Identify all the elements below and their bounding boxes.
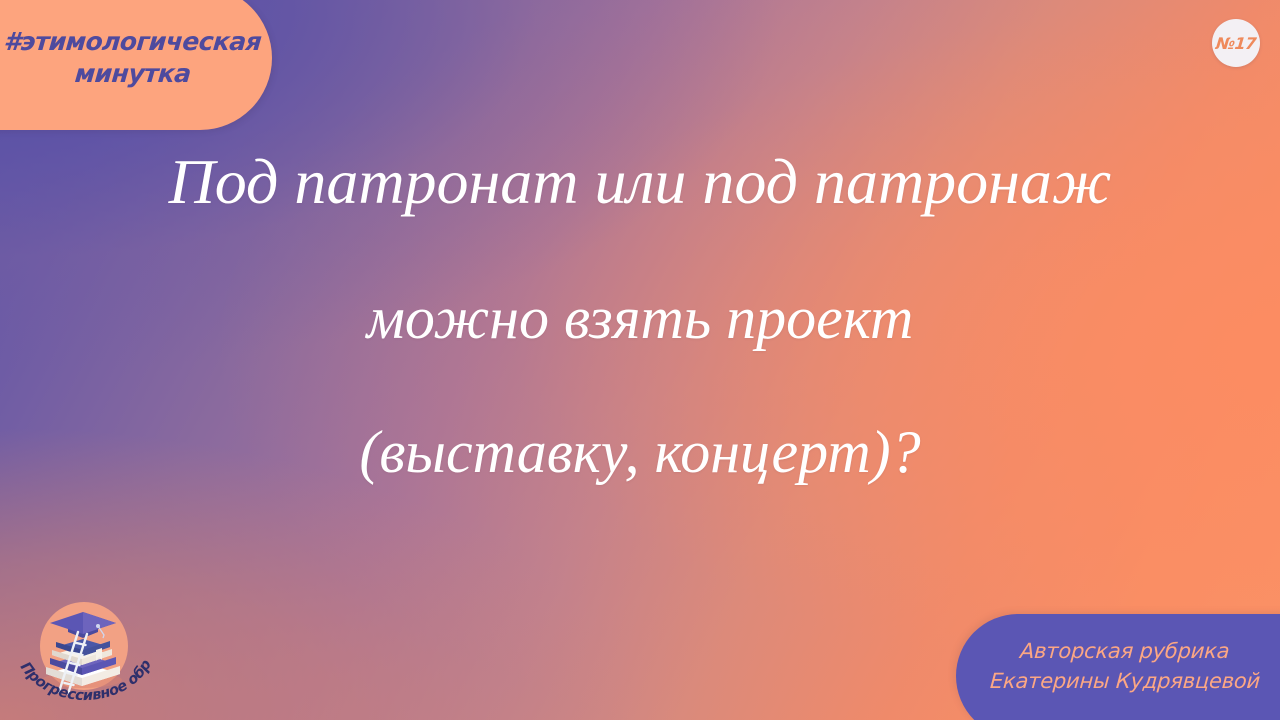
author-credit-line-2: Екатерины Кудрявцевой: [989, 667, 1261, 697]
brand-logo: Прогрессивное образование: [12, 588, 172, 718]
hashtag-badge-line-1: #этимологическая: [3, 26, 263, 58]
author-credit-line-1: Авторская рубрика: [1019, 637, 1230, 667]
issue-number-label: №17: [1215, 34, 1257, 53]
issue-number-badge: №17: [1212, 19, 1260, 67]
hashtag-badge-line-2: минутка: [74, 58, 192, 90]
author-credit-badge: Авторская рубрика Екатерины Кудрявцевой: [956, 614, 1280, 720]
slide-canvas: #этимологическая минутка №17 Под патрона…: [0, 0, 1280, 720]
hashtag-badge: #этимологическая минутка: [0, 0, 272, 130]
